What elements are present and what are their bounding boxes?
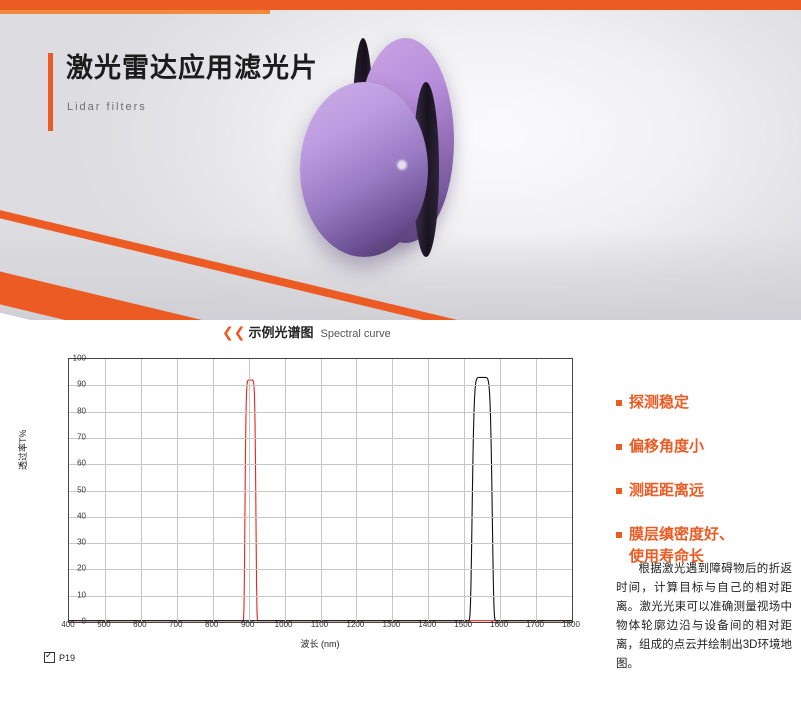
feature-bullet: 测距距离远 (616, 480, 791, 502)
top-orange-bar (0, 0, 801, 10)
chart-gridline-h (69, 517, 572, 518)
top-orange-accent-bar (0, 10, 270, 14)
chart-x-tick-label: 1500 (454, 620, 472, 629)
hero-title-block: 激光雷达应用滤光片 Lidar filters (48, 48, 318, 113)
page-title: 激光雷达应用滤光片 (66, 48, 318, 88)
legend-label: P19 (59, 653, 75, 663)
section-heading: ❮❮ 示例光谱图 Spectral curve (222, 322, 391, 341)
chart-x-tick-label: 1000 (275, 620, 293, 629)
chart-x-axis-label: 波长 (nm) (301, 637, 340, 650)
page-root: 激光雷达应用滤光片 Lidar filters ❮❮ 示例光谱图 Spectra… (0, 0, 801, 703)
bullet-square-icon (616, 488, 622, 494)
chart-y-tick-label: 50 (46, 485, 86, 494)
chart-x-tick-label: 900 (241, 620, 254, 629)
chart-y-tick-label: 80 (46, 406, 86, 415)
chart-y-tick-label: 0 (46, 617, 86, 626)
chart-legend: P19 (44, 652, 75, 663)
chart-x-tick-label: 1100 (311, 620, 328, 629)
feature-bullet-label: 偏移角度小 (629, 436, 704, 458)
chart-x-tick-label: 800 (205, 620, 218, 629)
chart-x-tick-label: 1800 (562, 620, 580, 629)
chart-gridline-h (69, 412, 572, 413)
chart-y-tick-label: 60 (46, 459, 86, 468)
chart-x-tick-label: 1300 (382, 620, 400, 629)
spectral-chart: 透过率T% 波长 (nm) P19 4005006007008009001000… (18, 350, 588, 650)
chart-x-tick-label: 1200 (347, 620, 365, 629)
description-paragraph: 根据激光遇到障碍物后的折返时间，计算目标与自己的相对距离。激光光束可以准确测量视… (616, 560, 792, 674)
chart-y-tick-label: 40 (46, 511, 86, 520)
feature-bullet: 偏移角度小 (616, 436, 791, 458)
chevron-up-icon: ❮❮ (222, 325, 245, 339)
chart-gridline-h (69, 464, 572, 465)
chart-gridline-h (69, 596, 572, 597)
chart-gridline-h (69, 385, 572, 386)
chart-y-tick-label: 20 (46, 564, 86, 573)
chart-gridline-h (69, 543, 572, 544)
chart-gridline-h (69, 491, 572, 492)
bullet-square-icon (616, 444, 622, 450)
feature-bullet-label: 探测稳定 (629, 392, 689, 414)
chart-y-tick-label: 70 (46, 432, 86, 441)
legend-checkbox-icon[interactable] (44, 652, 55, 663)
chart-y-tick-label: 10 (46, 590, 86, 599)
chart-x-tick-label: 500 (97, 620, 110, 629)
chart-x-tick-label: 700 (169, 620, 182, 629)
chart-plot-area (68, 358, 573, 623)
section-title-cn: 示例光谱图 (248, 322, 313, 341)
chart-x-tick-label: 1700 (526, 620, 544, 629)
chart-x-tick-label: 1400 (418, 620, 436, 629)
chart-y-tick-label: 100 (46, 354, 86, 363)
chart-x-tick-label: 1600 (490, 620, 508, 629)
chart-y-axis-label: 透过率T% (16, 429, 29, 470)
feature-bullet: 探测稳定 (616, 392, 791, 414)
description-text: 根据激光遇到障碍物后的折返时间，计算目标与自己的相对距离。激光光束可以准确测量视… (616, 563, 792, 670)
page-subtitle: Lidar filters (67, 101, 318, 113)
chart-y-tick-label: 90 (46, 380, 86, 389)
chart-gridline-h (69, 438, 572, 439)
hero-banner: 激光雷达应用滤光片 Lidar filters (0, 0, 801, 320)
chart-x-tick-label: 600 (133, 620, 146, 629)
bullet-square-icon (616, 400, 622, 406)
chart-y-tick-label: 30 (46, 538, 86, 547)
section-title-en: Spectral curve (320, 328, 390, 340)
bullet-square-icon (616, 532, 622, 538)
chart-gridline-h (69, 569, 572, 570)
feature-bullet-label: 测距距离远 (629, 480, 704, 502)
title-accent-bar (48, 53, 53, 131)
